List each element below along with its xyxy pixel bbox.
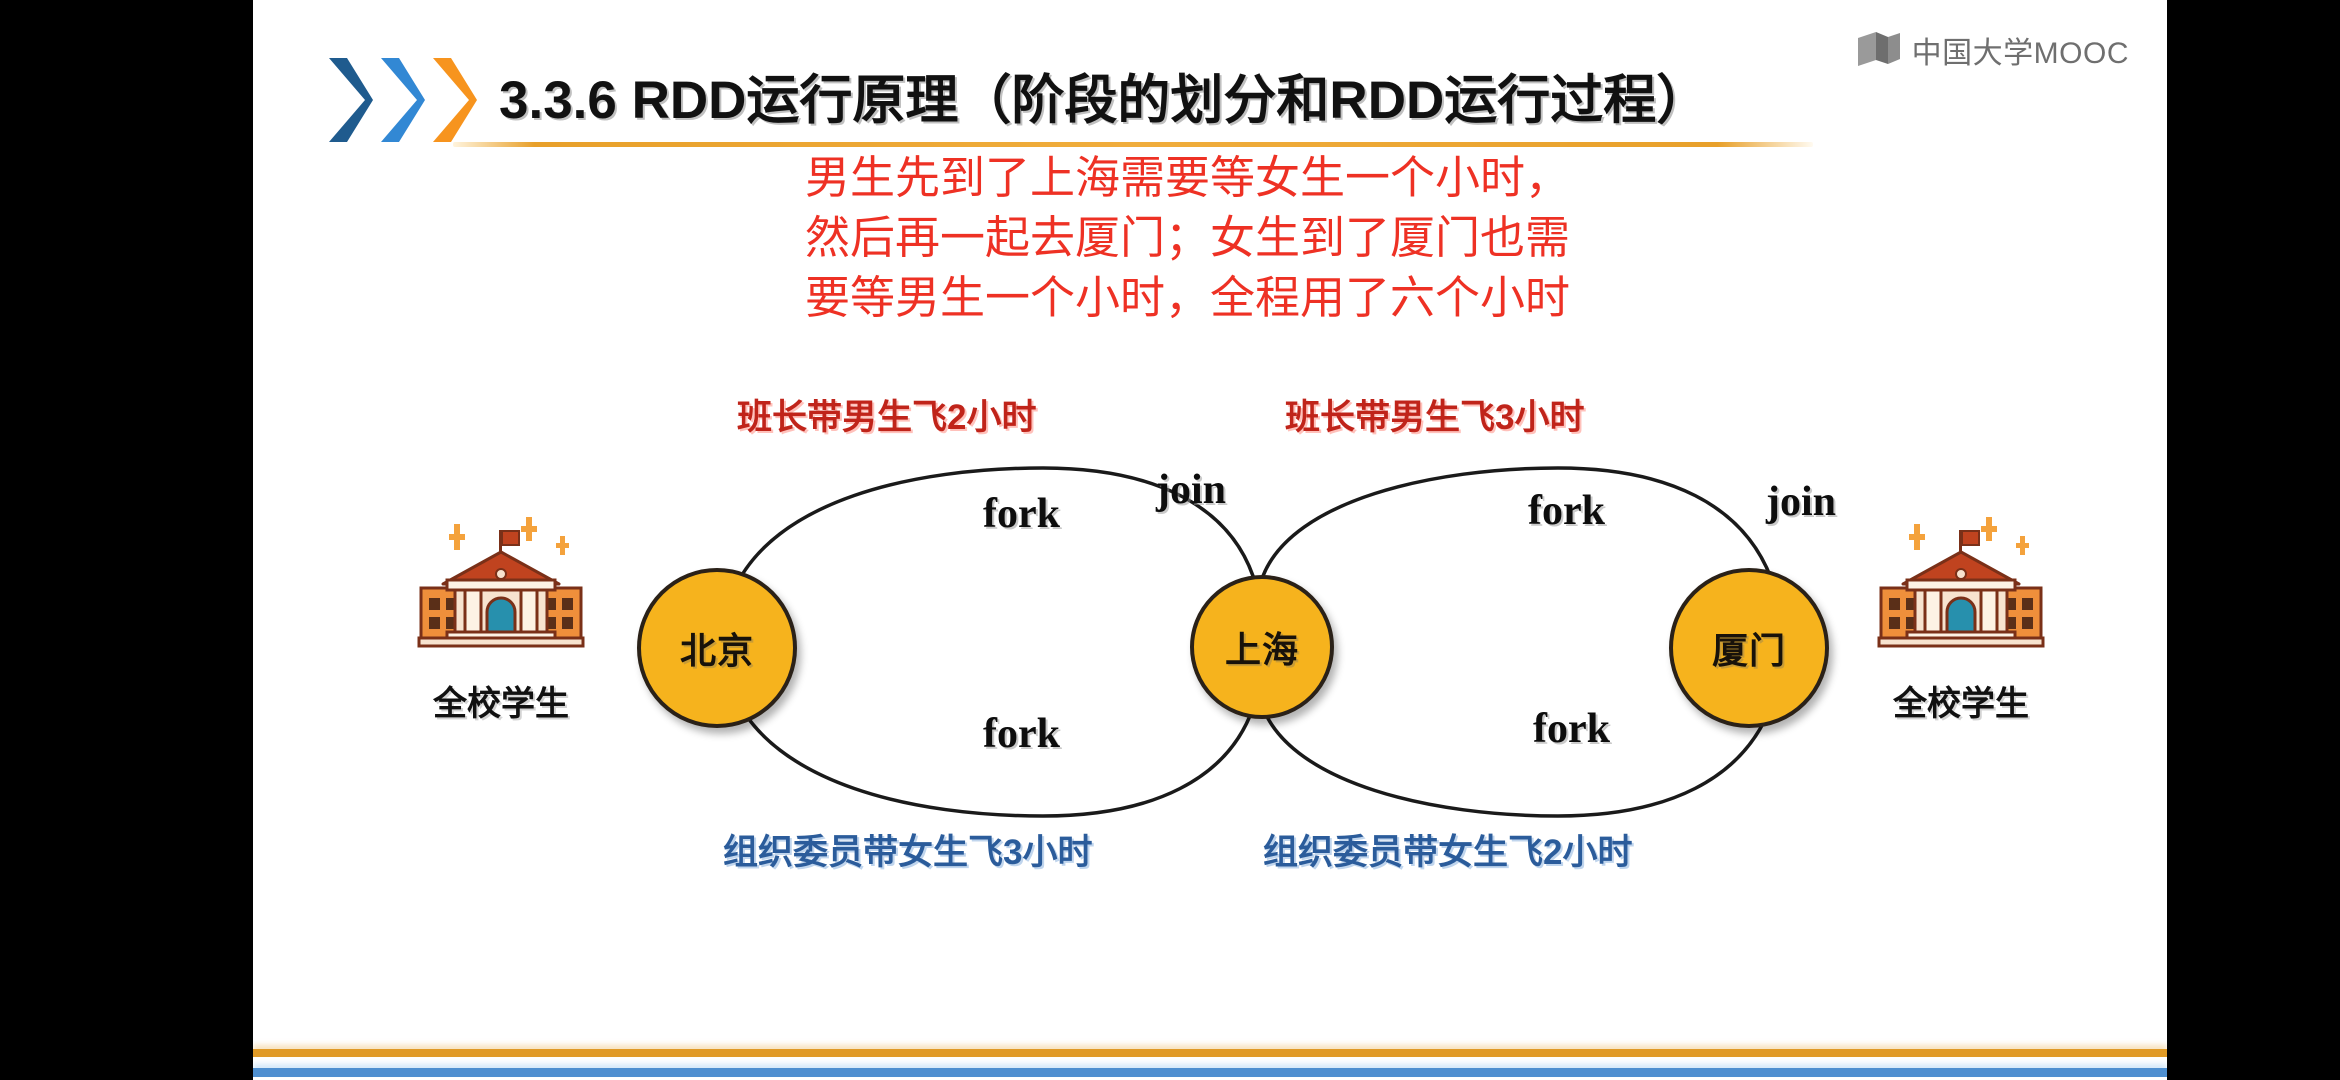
node-xiamen-label: 厦门 [1712,622,1786,674]
brand-logo: 中国大学MOOC [1856,28,2129,72]
node-shanghai-label: 上海 [1225,621,1299,673]
footer-rule-blue [253,1068,2167,1077]
edge-label-fork-2-top: fork [1528,487,1605,535]
edge-label-fork-1-bottom: fork [983,710,1060,758]
chevron-right-icon-3 [429,52,481,148]
school-caption-right: 全校学生 [1873,676,2049,725]
school-building-icon-left [413,512,589,662]
edge-label-join-1: join [1156,466,1226,514]
chevron-right-icon-1 [325,52,377,148]
slide-canvas: 3.3.6 RDD运行原理（阶段的划分和RDD运行过程） 中国大学MOOC 男生… [253,0,2167,1080]
school-caption-left: 全校学生 [413,676,589,725]
stage-label-top-2: 班长带男生飞3小时 [1285,389,1584,440]
stage-label-bottom-2: 组织委员带女生飞2小时 [1263,824,1632,875]
node-beijing[interactable]: 北京 [637,568,797,728]
footer-rule-orange [253,1049,2167,1057]
red-annotation-text: 男生先到了上海需要等女生一个小时，然后再一起去厦门；女生到了厦门也需要等男生一个… [805,148,1605,328]
edge-label-fork-2-bottom: fork [1533,705,1610,753]
video-player-frame: 3.3.6 RDD运行原理（阶段的划分和RDD运行过程） 中国大学MOOC 男生… [0,0,2340,1080]
stage-label-bottom-1: 组织委员带女生飞3小时 [723,824,1092,875]
chevron-right-icon-2 [377,52,429,148]
stage-label-top-1: 班长带男生飞2小时 [737,389,1036,440]
page-title: 3.3.6 RDD运行原理（阶段的划分和RDD运行过程） [499,58,1709,134]
node-beijing-label: 北京 [680,622,754,674]
school-building-icon-right [1873,512,2049,662]
node-xiamen[interactable]: 厦门 [1669,568,1829,728]
edge-label-join-2: join [1766,478,1836,526]
title-underline [453,142,1813,147]
node-shanghai[interactable]: 上海 [1190,575,1334,719]
book-mark-icon [1856,30,1902,70]
brand-logo-text: 中国大学MOOC [1912,28,2129,72]
edge-label-fork-1-top: fork [983,490,1060,538]
chevron-decoration [325,52,485,148]
